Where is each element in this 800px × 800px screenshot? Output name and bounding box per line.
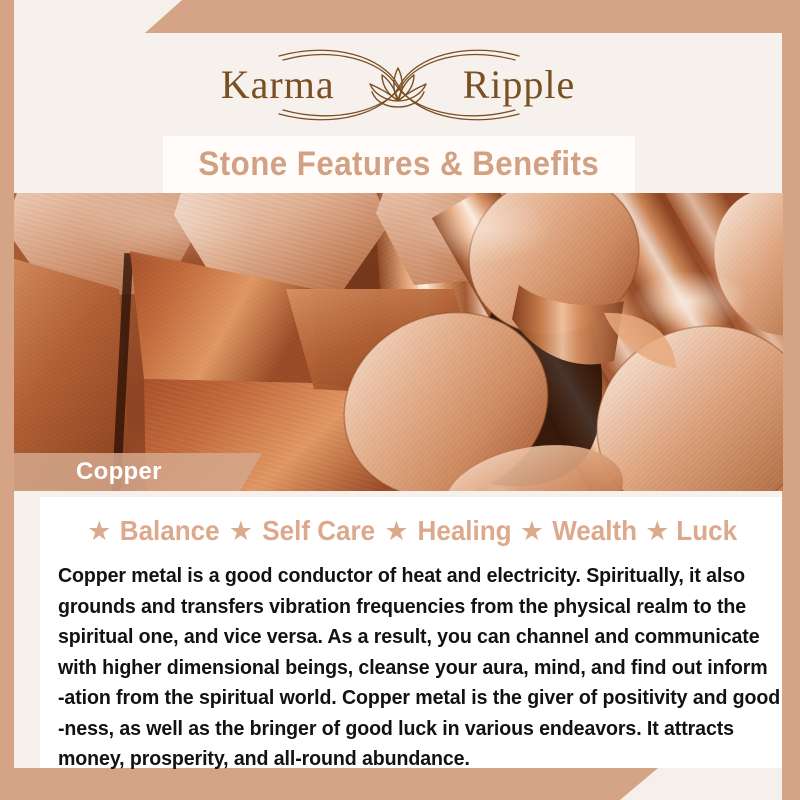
star-icon: ★ [515,518,549,545]
description-line: with higher dimensional beings, cleanse … [58,653,734,684]
brand-logo: Karma Ripple [14,33,782,136]
brand-word-right: Ripple [463,65,576,105]
description-panel: ★ Balance ★ Self Care ★ Healing ★ Wealth… [40,497,782,768]
benefit-label-wealth: Wealth [552,517,637,545]
benefit-label-self-care: Self Care [262,517,375,545]
frame-band-top [0,0,800,33]
benefit-label-healing: Healing [417,517,511,545]
star-icon: ★ [224,518,258,545]
description-line: money, prosperity, and all-round abundan… [58,744,734,775]
photo-caption-banner: Copper [14,453,262,491]
star-icon: ★ [379,518,413,545]
lotus-icon [360,61,436,109]
description-line: grounds and transfers vibration frequenc… [58,592,734,623]
description-line: Copper metal is a good conductor of heat… [58,561,734,592]
description-text: Copper metal is a good conductor of heat… [56,561,766,775]
photo-caption-label: Copper [76,458,162,486]
description-line: spiritual one, and vice versa. As a resu… [58,622,734,653]
star-icon: ★ [82,518,116,545]
benefit-label-balance: Balance [120,517,220,545]
description-line: -ation from the spiritual world. Copper … [58,683,734,714]
copper-bars-photo: Copper [14,193,783,491]
frame-band-left [0,0,14,800]
benefit-label-luck: Luck [677,517,738,545]
title-band: Stone Features & Benefits [163,136,635,193]
star-icon: ★ [640,518,674,545]
benefits-row: ★ Balance ★ Self Care ★ Healing ★ Wealth… [56,511,766,551]
brand-word-left: Karma [221,65,335,105]
description-line: -ness, as well as the bringer of good lu… [58,714,734,745]
frame-band-right [782,0,800,800]
page-title: Stone Features & Benefits [199,145,600,184]
